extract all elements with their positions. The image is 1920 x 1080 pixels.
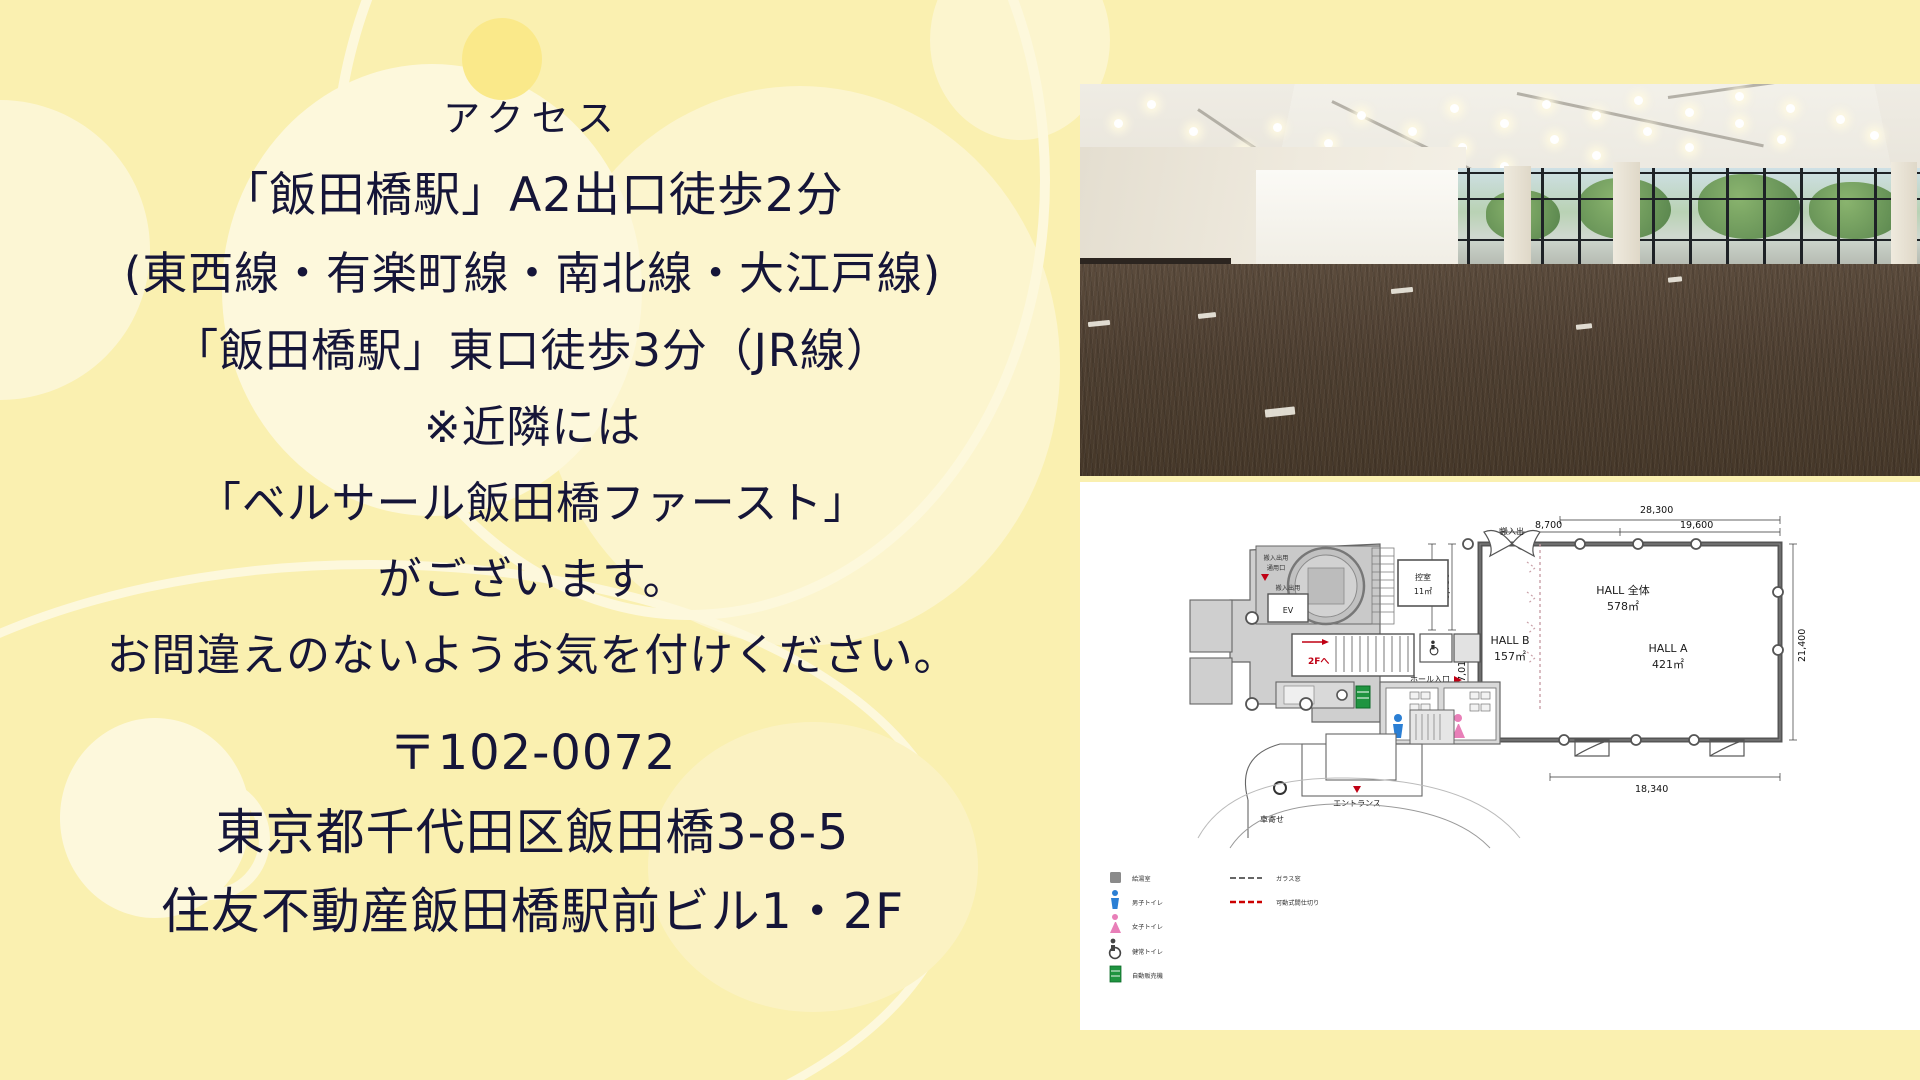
room-name: 控室: [1415, 572, 1431, 582]
hall-interior-photo: [1080, 84, 1920, 476]
marker-hanyushutsu: 搬入出: [1500, 526, 1524, 536]
dim-19600: 19,600: [1680, 520, 1713, 531]
legend-label-0: 給湯室: [1132, 875, 1151, 883]
dim-18340: 18,340: [1635, 784, 1668, 795]
postal-code: 〒102-0072: [389, 713, 677, 783]
marker-tsuyouguchi-line2: 通用口: [1267, 564, 1286, 572]
hall-a-name: HALL A: [1648, 642, 1688, 655]
marker-ev: EV: [1283, 606, 1294, 615]
access-line-4: ※近隣には: [424, 391, 641, 455]
vending-machine-icon: [1356, 686, 1370, 708]
hall-a-area: 421㎡: [1652, 658, 1684, 671]
legend-line-label-1: 可動式間仕切り: [1276, 899, 1319, 907]
access-line-3: 「飯田橋駅」東口徒歩3分（JR線）: [173, 314, 891, 379]
marker-hanyushutsu-you: 搬入出用: [1276, 584, 1301, 592]
legend-label-2: 女子トイレ: [1132, 923, 1163, 931]
marker-tsuyouguchi-line1: 搬入出用: [1264, 554, 1289, 562]
floorplan-panel: 28,300 8,700 19,600 21,400 18,340: [1080, 482, 1920, 1030]
photo-projection-screen: [1256, 170, 1466, 272]
photo-pillar: [1613, 162, 1640, 268]
photo-pillar: [1891, 162, 1918, 272]
media-column: 28,300 8,700 19,600 21,400 18,340: [1080, 0, 1920, 1080]
dim-28300: 28,300: [1640, 505, 1673, 516]
access-line-6: がございます。: [378, 543, 688, 607]
access-heading: アクセス: [443, 88, 622, 142]
access-line-7: お間違えのないようお気を付けください。: [107, 619, 959, 683]
access-line-5: 「ベルサール飯田橋ファースト」: [197, 467, 868, 531]
room-area: 11㎡: [1414, 587, 1432, 596]
photo-pillar: [1504, 166, 1531, 268]
legend-line-label-0: ガラス窓: [1276, 875, 1301, 883]
access-line-1: 「飯田橋駅」A2出口徒歩2分: [221, 156, 843, 225]
access-line-2: (東西線・有楽町線・南北線・大江戸線): [124, 237, 941, 302]
legend-label-3: 健常トイレ: [1132, 948, 1163, 956]
floorplan-drawing: 28,300 8,700 19,600 21,400 18,340: [1080, 482, 1920, 1030]
hall-total-name: HALL 全体: [1596, 583, 1650, 597]
hall-b-area: 157㎡: [1494, 650, 1526, 663]
legend-label-1: 男子トイレ: [1132, 900, 1163, 907]
photo-carpet-floor: [1080, 264, 1920, 476]
hall-total-area: 578㎡: [1607, 600, 1639, 613]
dim-8700: 8,700: [1535, 520, 1562, 531]
hall-b-name: HALL B: [1490, 634, 1529, 647]
address-line-1: 東京都千代田区飯田橋3-8-5: [216, 793, 850, 864]
marker-to-2f: 2Fへ: [1308, 657, 1329, 667]
legend-label-4: 自動販売機: [1132, 972, 1163, 980]
dim-21400: 21,400: [1797, 629, 1808, 662]
address-line-2: 住友不動産飯田橋駅前ビル1・2F: [161, 872, 904, 943]
access-info-section: アクセス 「飯田橋駅」A2出口徒歩2分 (東西線・有楽町線・南北線・大江戸線) …: [0, 0, 1065, 1080]
